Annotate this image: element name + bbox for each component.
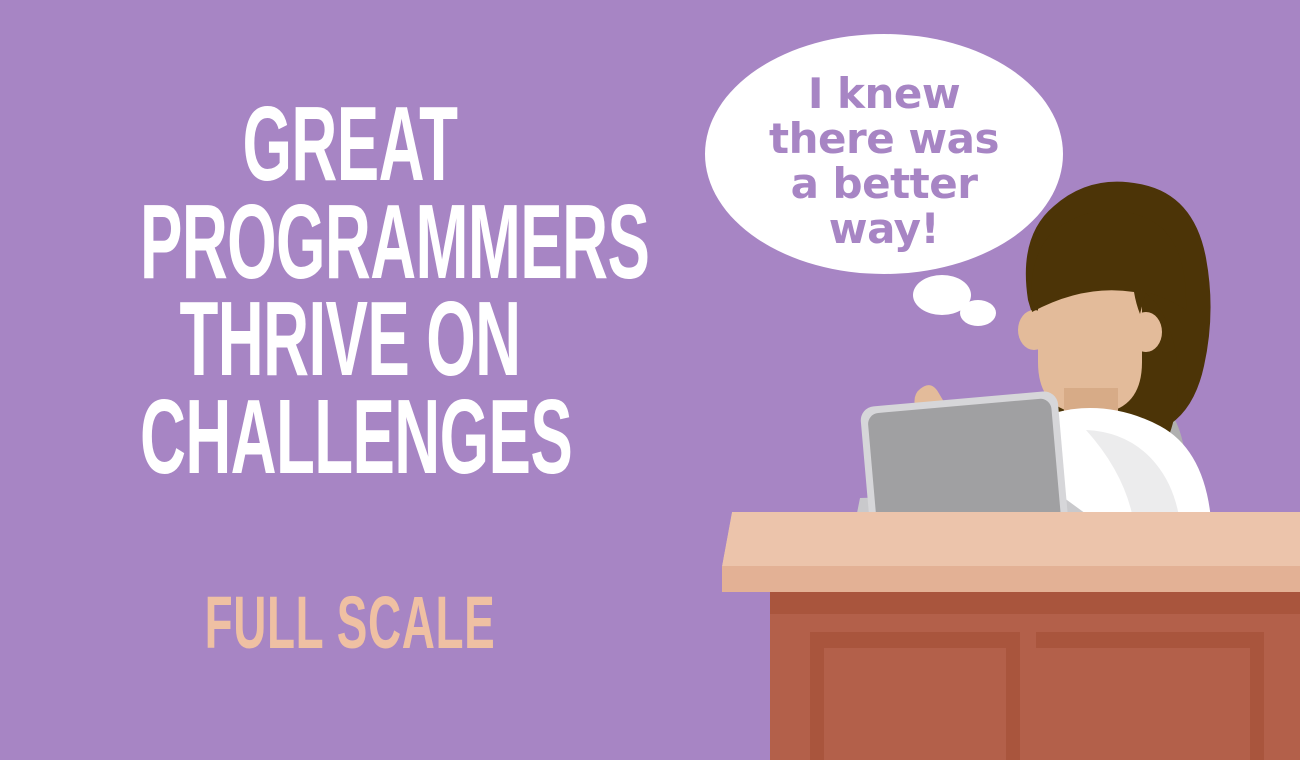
- headline: GREAT PROGRAMMERS THRIVE ON CHALLENGES: [0, 96, 700, 486]
- desk-icon: [700, 512, 1300, 760]
- subheadline: FULL SCALE: [0, 586, 700, 660]
- headline-line-3: THRIVE ON: [140, 291, 560, 389]
- headline-line-1: GREAT: [140, 96, 560, 194]
- headline-line-2: PROGRAMMERS: [140, 194, 560, 292]
- brand-name: FULL SCALE: [133, 586, 567, 660]
- thought-bubble-icon: [705, 34, 1063, 274]
- headline-line-4: CHALLENGES: [140, 389, 560, 487]
- poster-canvas: GREAT PROGRAMMERS THRIVE ON CHALLENGES F…: [0, 0, 1300, 760]
- illustration-woman-at-desk: [640, 0, 1300, 760]
- thought-bubble-dot-small-icon: [960, 300, 996, 326]
